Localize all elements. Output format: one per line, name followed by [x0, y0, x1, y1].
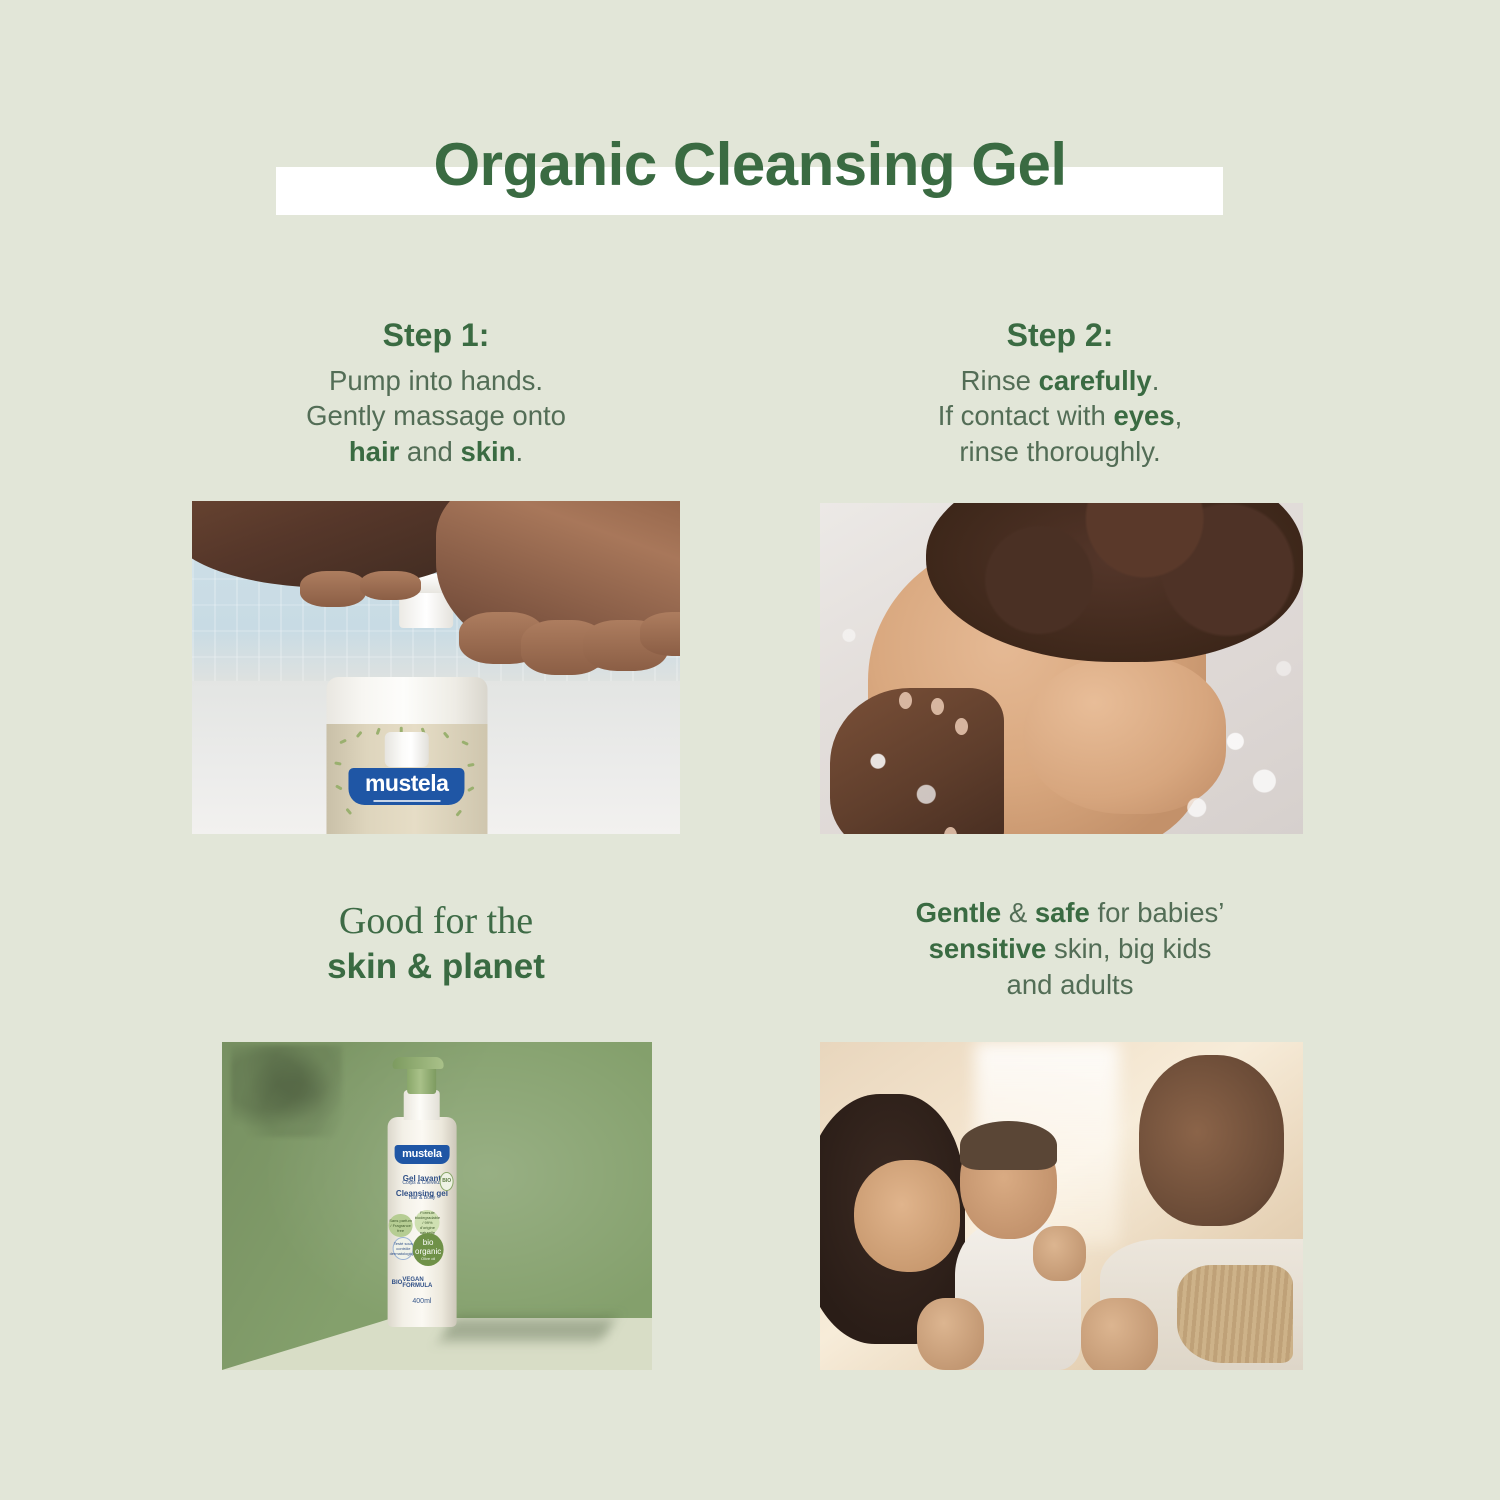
pump-collar: [385, 732, 428, 766]
mother-face: [854, 1160, 960, 1272]
bottle-drop-shadow: [439, 1318, 615, 1341]
father-head: [1139, 1055, 1284, 1226]
step-1-line-1: Pump into hands.: [329, 365, 543, 396]
step-1-heading: Step 1:: [216, 315, 656, 357]
step-2-caption: Step 2: Rinse carefully. If contact with…: [840, 315, 1280, 470]
baby-hand: [1033, 1226, 1086, 1282]
benefit-1-caption-block: Good for the skin & planet: [216, 900, 656, 988]
step-2-line-3: rinse thoroughly.: [959, 436, 1160, 467]
benefit-1-bold-line: skin & planet: [216, 946, 656, 988]
step-2-line-2-post: ,: [1175, 400, 1183, 431]
step-2-line-1-pre: Rinse: [961, 365, 1039, 396]
benefit-2-line-3: and adults: [1007, 969, 1134, 1000]
open-palm-hand: [436, 501, 680, 668]
page-title: Organic Cleansing Gel: [0, 130, 1500, 199]
step-1-bold-hair: hair: [349, 436, 399, 467]
benefit-2-bold-safe: safe: [1035, 897, 1090, 928]
pump-bottle: mustela: [326, 677, 487, 834]
step-1-line-3-mid: and: [399, 436, 460, 467]
bottle-volume: 400ml: [388, 1298, 457, 1305]
bio-organic-sub: Olive oil: [421, 1256, 435, 1261]
mustela-wordmark: mustela: [402, 1148, 441, 1160]
step-2-caption-block: Step 2: Rinse carefully. If contact with…: [840, 315, 1280, 470]
step-2-bold-carefully: carefully: [1039, 365, 1152, 396]
photo-family-with-baby: [820, 1042, 1303, 1370]
bio-organic-badge: bio organic Olive oil: [412, 1233, 444, 1267]
product-subtitle-en: Hair & Body: [388, 1196, 457, 1202]
benefit-2-caption-block: Gentle & safe for babies’ sensitive skin…: [840, 895, 1300, 1002]
claim-biodegradable: Formule biodegradable / 99% d’origine na…: [415, 1210, 440, 1235]
footer-bio-label: BIO: [392, 1280, 403, 1286]
step-1-line-3-post: .: [516, 436, 524, 467]
knit-blanket: [1177, 1265, 1293, 1363]
mustela-logo-badge: mustela: [394, 1145, 449, 1164]
green-pump-arm: [393, 1057, 444, 1070]
baby-foot-left: [917, 1298, 985, 1370]
step-2-bold-eyes: eyes: [1113, 400, 1174, 431]
benefit-2-line-1-mid: &: [1001, 897, 1035, 928]
step-1-caption: Step 1: Pump into hands. Gently massage …: [216, 315, 656, 470]
benefit-2-bold-gentle: Gentle: [916, 897, 1002, 928]
photo-product-bottle: mustela Gel lavant Corps & Cheveux Clean…: [222, 1042, 652, 1370]
step-1-line-2: Gently massage onto: [306, 400, 566, 431]
step-2-line-1-post: .: [1152, 365, 1160, 396]
step-2-line-2-pre: If contact with: [938, 400, 1114, 431]
product-bottle: mustela Gel lavant Corps & Cheveux Clean…: [388, 1117, 457, 1327]
bath-foam-bubbles: [820, 503, 1303, 834]
bottle-neck: [404, 1090, 440, 1119]
benefit-2-caption: Gentle & safe for babies’ sensitive skin…: [840, 895, 1300, 1002]
benefit-2-line-1-post: for babies’: [1090, 897, 1225, 928]
step-1-caption-block: Step 1: Pump into hands. Gently massage …: [216, 315, 656, 470]
step-2-heading: Step 2:: [840, 315, 1280, 357]
benefit-1-caption: Good for the skin & planet: [216, 900, 656, 988]
leaf-shadow: [231, 1045, 343, 1137]
benefit-1-serif-line: Good for the: [216, 900, 656, 944]
baby-foot-right: [1081, 1298, 1158, 1370]
dermatology-seal-icon: Testé sous contrôle dermatologique: [393, 1237, 414, 1260]
bio-organic-label: bio organic: [412, 1238, 444, 1256]
photo-child-in-bubble-bath: [820, 503, 1303, 834]
green-pump-body: [407, 1067, 436, 1094]
bottle-footer-icons: BIO VEGAN FORMULA: [392, 1277, 453, 1289]
claim-fragrance-free: Sans parfum / Fragrance free: [389, 1214, 412, 1237]
footer-vegan-label: VEGAN FORMULA: [402, 1277, 452, 1289]
benefit-2-line-2-post: skin, big kids: [1046, 933, 1211, 964]
benefit-2-bold-sensitive: sensitive: [929, 933, 1047, 964]
logo-underline: [373, 800, 440, 802]
mustela-logo-badge: mustela: [349, 768, 465, 805]
baby-hair: [960, 1121, 1057, 1170]
photo-hands-pumping-bottle: mustela: [192, 501, 680, 834]
step-1-bold-skin: skin: [460, 436, 515, 467]
mustela-wordmark: mustela: [365, 772, 448, 795]
